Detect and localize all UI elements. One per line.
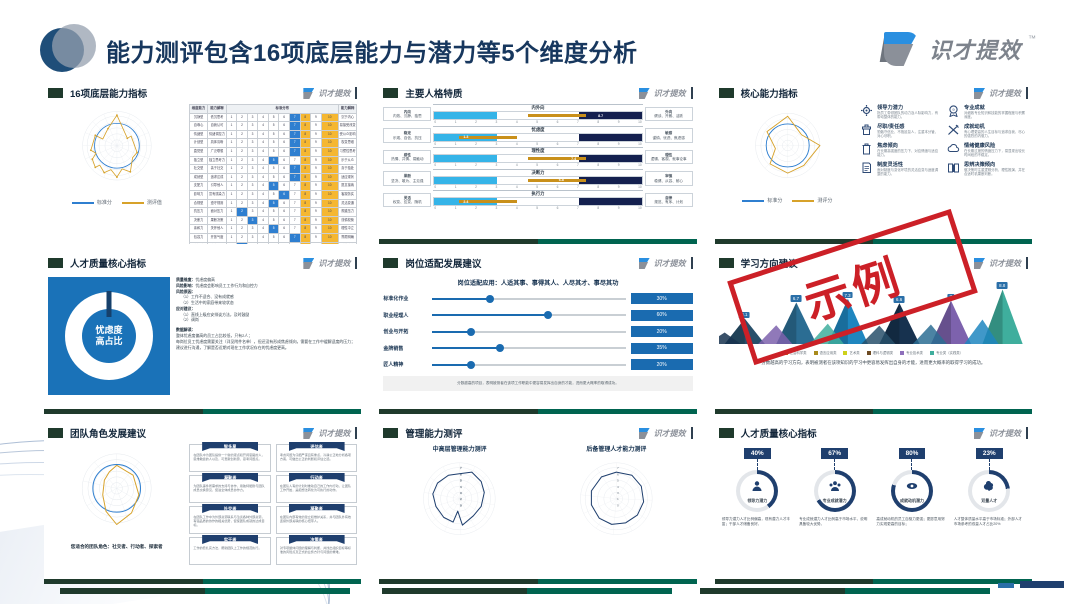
cell-score[interactable]: 1 bbox=[226, 233, 237, 242]
cell-score[interactable]: 4 bbox=[258, 242, 269, 244]
cell-score[interactable]: 7 bbox=[289, 233, 300, 242]
cell-score[interactable]: 10 bbox=[321, 139, 338, 148]
cell-score[interactable]: 4 bbox=[258, 165, 269, 174]
cell-score[interactable]: 8 bbox=[300, 122, 311, 131]
brand-name: 识才提效 bbox=[654, 88, 686, 99]
cell-score[interactable]: 3 bbox=[247, 182, 258, 191]
cell-score[interactable]: 9 bbox=[311, 156, 322, 165]
cell-score[interactable]: 2 bbox=[237, 199, 248, 208]
cell-score[interactable]: 5 bbox=[268, 156, 279, 165]
cell-score[interactable]: 1 bbox=[226, 130, 237, 139]
card-foundational-abilities[interactable]: 16项底层能力指标 识才提效 bbox=[44, 84, 361, 244]
cell-score[interactable]: 10 bbox=[321, 173, 338, 182]
cell-score[interactable]: 6 bbox=[279, 225, 290, 234]
svg-text:4: 4 bbox=[617, 485, 619, 489]
cell-score[interactable]: 1 bbox=[226, 190, 237, 199]
cell-score[interactable]: 10 bbox=[321, 156, 338, 165]
cell-score[interactable]: 5 bbox=[268, 242, 279, 244]
cell-score[interactable]: 9 bbox=[311, 208, 322, 217]
radar-chart-core: 标准分 测评分 bbox=[719, 104, 856, 204]
cell-score[interactable]: 2 bbox=[237, 122, 248, 131]
cell-score[interactable]: 7 bbox=[289, 147, 300, 156]
card-body: 内向内敛、沉静、独思内外向8.7012345678910外向健谈、开朗、活跃稳定… bbox=[379, 100, 696, 236]
cell-score[interactable]: 1 bbox=[226, 122, 237, 131]
cell-score[interactable]: 8 bbox=[300, 242, 311, 244]
cell-score[interactable]: 9 bbox=[311, 139, 322, 148]
job-fit-slider[interactable] bbox=[432, 364, 625, 366]
svg-text:5: 5 bbox=[460, 479, 462, 483]
cell-score[interactable]: 3 bbox=[247, 147, 258, 156]
cell-score[interactable]: 7 bbox=[289, 156, 300, 165]
cell-score[interactable]: 10 bbox=[321, 233, 338, 242]
cell-score[interactable]: 3 bbox=[247, 165, 258, 174]
cell-score[interactable]: 6 bbox=[279, 216, 290, 225]
cell-score[interactable]: 6 bbox=[279, 147, 290, 156]
cell-score[interactable]: 3 bbox=[247, 122, 258, 131]
table-row[interactable]: 支配力引导他人12345678910愿意接纳 bbox=[189, 182, 356, 191]
cell-score[interactable]: 9 bbox=[311, 165, 322, 174]
cell-score[interactable]: 9 bbox=[311, 147, 322, 156]
job-fit-row[interactable]: 金牌销售35% bbox=[383, 343, 692, 354]
cell-score[interactable]: 8 bbox=[300, 156, 311, 165]
competency-desc: 对细致专业知识和技能的掌握程度与积累深度。 bbox=[964, 111, 1028, 120]
cell-score[interactable]: 10 bbox=[321, 113, 338, 122]
cell-explain2: 界限明确 bbox=[338, 233, 356, 242]
cell-score[interactable]: 3 bbox=[247, 130, 258, 139]
cell-score[interactable]: 9 bbox=[311, 216, 322, 225]
cell-score[interactable]: 8 bbox=[300, 173, 311, 182]
cell-score[interactable]: 3 bbox=[247, 233, 258, 242]
cell-score[interactable]: 6 bbox=[279, 165, 290, 174]
cell-score[interactable]: 7 bbox=[289, 113, 300, 122]
cell-score[interactable]: 3 bbox=[247, 242, 258, 244]
cell-score[interactable]: 5 bbox=[268, 225, 279, 234]
job-fit-name: 职业经理人 bbox=[383, 312, 427, 319]
cell-score[interactable]: 6 bbox=[279, 182, 290, 191]
radar-svg-core bbox=[719, 104, 856, 190]
cell-score[interactable]: 10 bbox=[321, 147, 338, 156]
cell-score[interactable]: 7 bbox=[289, 130, 300, 139]
cell-explain: 低沉思考 bbox=[208, 113, 226, 122]
cell-score[interactable]: 1 bbox=[226, 242, 237, 244]
cell-explain2: 规避压力 bbox=[338, 208, 356, 217]
ability-table[interactable]: 维度能力 能力解释 标准分布 能力解释 沉静型低沉思考12345678910沉于… bbox=[189, 104, 357, 244]
team-role-card[interactable]: 凝聚者为团队事件所需求的支持与协作，用独特能耐与团队成员交换意见，促进全体成员协… bbox=[189, 475, 270, 503]
cell-score[interactable]: 3 bbox=[247, 208, 258, 217]
cell-score[interactable]: 9 bbox=[311, 199, 322, 208]
cell-score[interactable]: 5 bbox=[268, 139, 279, 148]
job-fit-pct: 20% bbox=[631, 326, 693, 337]
cell-score[interactable]: 10 bbox=[321, 165, 338, 174]
team-role-ribbons: 智多星在团队中为团队提供一个新的观点和开阔思路的人，思维敏捷的人以及，可贡献创新… bbox=[189, 444, 357, 565]
cell-score[interactable]: 2 bbox=[237, 233, 248, 242]
card-talent-quality-gauges[interactable]: 人才质量核心指标 识才提效 40%领导力潜力领导力潜力人才比例偏高，现有潜力人才… bbox=[715, 424, 1032, 584]
brand-mark-icon bbox=[638, 427, 651, 439]
cell-score[interactable]: 6 bbox=[279, 122, 290, 131]
peaks-legend: 社会科学类语言应用类艺术类理科与逻辑类专业技术类专业类（实践类） bbox=[719, 350, 1028, 355]
table-row[interactable]: 抗压力面对压力12345678910规避压力 bbox=[189, 208, 356, 217]
cell-score[interactable]: 3 bbox=[247, 216, 258, 225]
cell-dimension: 自律型 bbox=[189, 242, 207, 244]
cell-score[interactable]: 1 bbox=[226, 165, 237, 174]
cell-score[interactable]: 10 bbox=[321, 242, 338, 244]
bottom-accent-2 bbox=[1020, 581, 1064, 588]
cell-score[interactable]: 4 bbox=[258, 208, 269, 217]
cell-score[interactable]: 8 bbox=[300, 233, 311, 242]
radar-legend: 标准分 测评分 bbox=[719, 197, 856, 204]
cell-score[interactable]: 5 bbox=[268, 165, 279, 174]
cell-score[interactable]: 5 bbox=[268, 182, 279, 191]
slider-knob[interactable] bbox=[496, 344, 504, 352]
trait-value: 7.4 bbox=[571, 157, 576, 161]
cell-score[interactable]: 8 bbox=[300, 139, 311, 148]
cell-score[interactable]: 6 bbox=[279, 199, 290, 208]
cell-score[interactable]: 7 bbox=[289, 122, 300, 131]
table-row[interactable]: 包容力开放气度12345678910界限明确 bbox=[189, 233, 356, 242]
job-fit-slider[interactable] bbox=[432, 298, 625, 300]
table-row[interactable]: 直觉型广泛联想12345678910习惯性思考 bbox=[189, 147, 356, 156]
slider-knob[interactable] bbox=[467, 328, 475, 336]
cell-explain2: 理性中立 bbox=[338, 225, 356, 234]
team-role-card[interactable]: 智多星在团队中为团队提供一个新的观点和开阔思路的人，思维敏捷的人以及，可贡献创新… bbox=[189, 444, 270, 472]
cell-score[interactable]: 8 bbox=[300, 165, 311, 174]
job-fit-row[interactable]: 匠人精神20% bbox=[383, 359, 692, 370]
cell-score[interactable]: 9 bbox=[311, 225, 322, 234]
cell-score[interactable]: 9 bbox=[311, 233, 322, 242]
competency-title: 领导力潜力 bbox=[877, 104, 941, 111]
job-fit-row[interactable]: 职业经理人60% bbox=[383, 310, 692, 321]
brand-mark-icon bbox=[882, 30, 922, 68]
table-row[interactable]: 沉静型低沉思考12345678910沉于内心 bbox=[189, 113, 356, 122]
gauge-desc: 高成就动机的员工自驱力更强；更愿意用努力实现更高的目标； bbox=[876, 517, 947, 527]
cell-explain2: 乐于从众 bbox=[338, 156, 356, 165]
cell-score[interactable]: 9 bbox=[311, 182, 322, 191]
gauge-ring: 领导力潜力 bbox=[736, 470, 778, 512]
group-icon bbox=[829, 479, 841, 497]
trait-right-label: 自律规范、有序、计划 bbox=[645, 193, 693, 208]
cell-score[interactable]: 7 bbox=[289, 216, 300, 225]
table-row[interactable]: 影响力富有感染力12345678910客观务实 bbox=[189, 190, 356, 199]
cell-score[interactable]: 1 bbox=[226, 216, 237, 225]
peaks-svg bbox=[719, 274, 1028, 348]
card-management-assessment[interactable]: 管理能力测评 识才提效 中高层管理能力测评 bbox=[379, 424, 696, 584]
slider-knob[interactable] bbox=[544, 311, 552, 319]
cell-score[interactable]: 4 bbox=[258, 113, 269, 122]
brand-name: 识才提效 bbox=[989, 428, 1021, 439]
peaks-legend-item: 专业技术类 bbox=[900, 350, 923, 355]
competency-desc: 在长期过度的情绪压力下，易显现出较长时间段的不稳定。 bbox=[964, 149, 1028, 158]
trait-row: 感性热情、共情、易触动理性度7.4012345678910理性逻辑、客观、就事论… bbox=[383, 147, 692, 167]
cell-score[interactable]: 1 bbox=[226, 156, 237, 165]
ability-table-wrap[interactable]: 维度能力 能力解释 标准分布 能力解释 沉静型低沉思考12345678910沉于… bbox=[189, 104, 357, 244]
cell-score[interactable]: 7 bbox=[289, 190, 300, 199]
team-role-tag: 凝聚者 bbox=[289, 504, 345, 513]
cell-score[interactable]: 9 bbox=[311, 122, 322, 131]
cell-score[interactable]: 10 bbox=[321, 190, 338, 199]
table-row[interactable]: 情绪型情绪调控力12345678910受公众影响 bbox=[189, 130, 356, 139]
cell-score[interactable]: 8 bbox=[300, 199, 311, 208]
cell-score[interactable]: 3 bbox=[247, 173, 258, 182]
trait-value: 8.7 bbox=[598, 114, 603, 118]
table-row[interactable]: 社交型善于社交12345678910喜于独处 bbox=[189, 165, 356, 174]
trait-axis: 012345678910 bbox=[433, 163, 642, 167]
cell-score[interactable]: 1 bbox=[226, 182, 237, 191]
th-explain: 能力解释 bbox=[208, 105, 226, 114]
cell-score[interactable]: 6 bbox=[279, 173, 290, 182]
cell-score[interactable]: 3 bbox=[247, 113, 258, 122]
card-learning-direction[interactable]: 学习方向建议 识才提效 4.16.77.36.678.8 社会科学类语言应用类艺… bbox=[715, 254, 1032, 414]
peak-value-label: 6.7 bbox=[791, 295, 802, 302]
cell-score[interactable]: 4 bbox=[258, 216, 269, 225]
cell-score[interactable]: 7 bbox=[289, 242, 300, 244]
page-title: 能力测评包含16项底层能力与潜力等5个维度分析 bbox=[106, 33, 638, 68]
cell-score[interactable]: 4 bbox=[258, 156, 269, 165]
cell-explain: 遵守规则 bbox=[208, 199, 226, 208]
card-marker-icon bbox=[383, 258, 398, 268]
peaks-legend-item: 艺术类 bbox=[843, 350, 859, 355]
cell-explain: 自我认可 bbox=[208, 122, 226, 131]
cell-score[interactable]: 10 bbox=[321, 199, 338, 208]
cell-score[interactable]: 3 bbox=[247, 139, 258, 148]
cell-score[interactable]: 5 bbox=[268, 173, 279, 182]
peak-value-label: 6.6 bbox=[894, 296, 905, 303]
cell-score[interactable]: 4 bbox=[258, 139, 269, 148]
team-radar-svg bbox=[48, 444, 185, 536]
job-fit-row[interactable]: 创业与开拓20% bbox=[383, 326, 692, 337]
cell-score[interactable]: 9 bbox=[311, 130, 322, 139]
table-row[interactable]: 独立型独立思考力12345678910乐于从众 bbox=[189, 156, 356, 165]
card-title: 主要人格特质 bbox=[405, 86, 462, 100]
cell-score[interactable]: 1 bbox=[226, 225, 237, 234]
team-role-card[interactable]: 决策者对专项整体问题的理解与判断，并找出组织目标等标准的风险点及正式的业务方针与… bbox=[276, 537, 357, 565]
cell-score[interactable]: 1 bbox=[226, 199, 237, 208]
table-row[interactable]: 自律型自我约束12345678910随性自在 bbox=[189, 242, 356, 244]
competency-title: 尽职/责任感 bbox=[877, 123, 941, 130]
card-body: 您适合的团队角色：社交者、行动者、探索者 智多星在团队中为团队提供一个新的观点和… bbox=[44, 440, 361, 576]
cell-score[interactable]: 10 bbox=[321, 130, 338, 139]
cell-explain2: 习惯性思考 bbox=[338, 147, 356, 156]
trait-left-label: 内向内敛、沉静、独思 bbox=[383, 107, 431, 122]
th-dimension: 维度能力 bbox=[189, 105, 207, 114]
cell-score[interactable]: 9 bbox=[311, 242, 322, 244]
cell-score[interactable]: 7 bbox=[289, 173, 300, 182]
gauge-ring: 双量人才 bbox=[968, 470, 1010, 512]
cell-score[interactable]: 6 bbox=[279, 208, 290, 217]
legend-label: 标准分 bbox=[767, 197, 782, 204]
team-role-card[interactable]: 行动者在团队人有的计划时推动自己的工作内行动，让团队工作开始，是把想法转化为可执… bbox=[276, 475, 357, 503]
cell-score[interactable]: 7 bbox=[289, 199, 300, 208]
card-job-fit[interactable]: 岗位适配发展建议 识才提效 岗位适配应用：人适其事、事得其人、人尽其才、事尽其功… bbox=[379, 254, 696, 414]
cell-score[interactable]: 5 bbox=[268, 147, 279, 156]
cell-score[interactable]: 10 bbox=[321, 182, 338, 191]
card-brand-logo: 识才提效 bbox=[638, 427, 693, 439]
gauge-column: 80%成就动机潜力高成就动机的员工自驱力更强；更愿意用努力实现更高的目标； bbox=[876, 448, 947, 527]
peak-value-label: 7.3 bbox=[842, 292, 853, 299]
cell-score[interactable]: 8 bbox=[300, 190, 311, 199]
cell-score[interactable]: 4 bbox=[258, 173, 269, 182]
card-team-role[interactable]: 团队角色发展建议 识才提效 bbox=[44, 424, 361, 584]
brand-name: 识才提效 bbox=[318, 88, 350, 99]
cell-score[interactable]: 5 bbox=[268, 199, 279, 208]
cell-score[interactable]: 5 bbox=[268, 208, 279, 217]
table-row[interactable]: 亲和力关怀他人12345678910理性中立 bbox=[189, 225, 356, 234]
team-role-text: 为团队事件所需求的支持与协作，用独特能耐与团队成员交换意见，促进全体成员协作力。 bbox=[193, 484, 266, 492]
cell-score[interactable]: 10 bbox=[321, 122, 338, 131]
cell-score[interactable]: 7 bbox=[289, 208, 300, 217]
cell-score[interactable]: 3 bbox=[247, 156, 258, 165]
cell-score[interactable]: 3 bbox=[247, 225, 258, 234]
job-fit-name: 匠人精神 bbox=[383, 361, 427, 368]
cell-score[interactable]: 3 bbox=[247, 190, 258, 199]
cell-score[interactable]: 2 bbox=[237, 225, 248, 234]
cell-score[interactable]: 7 bbox=[289, 182, 300, 191]
cell-score[interactable]: 2 bbox=[237, 139, 248, 148]
team-role-tag: 行动者 bbox=[289, 473, 345, 482]
team-radar-chart: 您适合的团队角色：社交者、行动者、探索者 bbox=[48, 444, 185, 565]
brand-logo: 识才提效 ™ bbox=[882, 30, 1036, 68]
cell-score[interactable]: 5 bbox=[268, 122, 279, 131]
cell-score[interactable]: 2 bbox=[237, 165, 248, 174]
cell-score[interactable]: 9 bbox=[311, 113, 322, 122]
table-row[interactable]: 合规型遵守规则12345678910灵活变通 bbox=[189, 199, 356, 208]
cell-score[interactable]: 8 bbox=[300, 130, 311, 139]
cell-score[interactable]: 6 bbox=[279, 156, 290, 165]
cell-score[interactable]: 2 bbox=[237, 242, 248, 244]
trait-row: 稳定乐观、自信、抗压忧虑度1.3012345678910敏感谨慎、忧虑、焦虑感 bbox=[383, 126, 692, 146]
cell-score[interactable]: 1 bbox=[226, 147, 237, 156]
team-role-card[interactable]: 实干者工作的稳扎实方法，帮助团队上工作的规范执行。 bbox=[189, 537, 270, 565]
team-role-card[interactable]: 凝聚者在团队内部有效的建立和维护关系，并与团队外有效连接外部关联的核心纽带人。 bbox=[276, 506, 357, 534]
cell-score[interactable]: 5 bbox=[268, 113, 279, 122]
target-icon bbox=[947, 123, 960, 136]
table-row[interactable]: 成就型追求达成12345678910适应现状 bbox=[189, 173, 356, 182]
team-role-card[interactable]: 评估者考虑问题为仔细严谨且有重点，冷静公正地分析各项方案，可做出公正的判断和评估… bbox=[276, 444, 357, 472]
cell-score[interactable]: 2 bbox=[237, 147, 248, 156]
cell-score[interactable]: 4 bbox=[258, 199, 269, 208]
brain-icon bbox=[983, 479, 995, 497]
cell-score[interactable]: 8 bbox=[300, 147, 311, 156]
cell-score[interactable]: 10 bbox=[321, 208, 338, 217]
table-row[interactable]: 自尊心自我认可12345678910易接受改变 bbox=[189, 122, 356, 131]
cell-dimension: 独立型 bbox=[189, 156, 207, 165]
radar-legend: 标准分 测评值 bbox=[48, 199, 186, 206]
card-body: 40%领导力潜力领导力潜力人才比例偏高，现有潜力人才丰富；干部人才储备良好。67… bbox=[715, 440, 1032, 576]
cell-score[interactable]: 9 bbox=[311, 173, 322, 182]
cell-score[interactable]: 1 bbox=[226, 139, 237, 148]
cell-score[interactable]: 6 bbox=[279, 242, 290, 244]
cell-score[interactable]: 9 bbox=[311, 190, 322, 199]
cell-score[interactable]: 10 bbox=[321, 225, 338, 234]
cell-score[interactable]: 6 bbox=[279, 233, 290, 242]
cell-score[interactable]: 8 bbox=[300, 182, 311, 191]
cell-score[interactable]: 8 bbox=[300, 113, 311, 122]
card-footer-bar bbox=[379, 409, 696, 414]
card-header: 团队角色发展建议 识才提效 bbox=[44, 424, 361, 440]
slider-knob[interactable] bbox=[467, 361, 475, 369]
cell-score[interactable]: 4 bbox=[258, 130, 269, 139]
summary-title: 数据解读： bbox=[176, 327, 195, 332]
cell-score[interactable]: 4 bbox=[258, 122, 269, 131]
cell-score[interactable]: 2 bbox=[237, 182, 248, 191]
job-fit-slider[interactable] bbox=[432, 331, 625, 333]
cell-score[interactable]: 6 bbox=[279, 130, 290, 139]
cell-score[interactable]: 8 bbox=[300, 216, 311, 225]
job-fit-rows[interactable]: 标准化作业30%职业经理人60%创业与开拓20%金牌销售35%匠人精神20% bbox=[383, 293, 692, 370]
cell-score[interactable]: 10 bbox=[321, 216, 338, 225]
cell-explain: 面对压力 bbox=[208, 208, 226, 217]
cell-score[interactable]: 4 bbox=[258, 182, 269, 191]
cell-score[interactable]: 8 bbox=[300, 208, 311, 217]
cell-explain: 引导他人 bbox=[208, 182, 226, 191]
card-body: 标准分 测评值 维度能力 能力解释 标准分布 能力解释 bbox=[44, 100, 361, 244]
competency-title: 制度灵活性 bbox=[877, 161, 941, 168]
card-talent-quality-anxiety[interactable]: 人才质量核心指标 识才提效 忧虑度 高占比 bbox=[44, 254, 361, 414]
table-header-row: 维度能力 能力解释 标准分布 能力解释 bbox=[189, 105, 356, 114]
cell-score[interactable]: 7 bbox=[289, 139, 300, 148]
job-fit-slider[interactable] bbox=[432, 314, 625, 316]
job-fit-slider[interactable] bbox=[432, 347, 625, 349]
cell-score[interactable]: 2 bbox=[237, 208, 248, 217]
team-role-card[interactable]: 社交者在团队工作中为外部资源联系与洽谈各种外部资源，有强品质的协作的相关优势，促… bbox=[189, 506, 270, 534]
cell-score[interactable]: 5 bbox=[268, 233, 279, 242]
cell-score[interactable]: 1 bbox=[226, 113, 237, 122]
cell-score[interactable]: 2 bbox=[237, 173, 248, 182]
competency-item: 成就动机有心理更高的人生目标与追求自我，尽心的强烈的内驱力。 bbox=[947, 123, 1028, 139]
cell-score[interactable]: 2 bbox=[237, 113, 248, 122]
cell-score[interactable]: 2 bbox=[237, 190, 248, 199]
cell-score[interactable]: 2 bbox=[237, 156, 248, 165]
cell-score[interactable]: 4 bbox=[258, 233, 269, 242]
cell-score[interactable]: 7 bbox=[289, 225, 300, 234]
table-row[interactable]: 决断力果断决策12345678910谨慎权衡 bbox=[189, 216, 356, 225]
cell-score[interactable]: 1 bbox=[226, 208, 237, 217]
slider-knob[interactable] bbox=[486, 295, 494, 303]
card-personality-traits[interactable]: 主要人格特质 识才提效 内向内敛、沉静、独思内外向8.7012345678910… bbox=[379, 84, 696, 244]
peaks-legend-item: 社会科学类 bbox=[784, 350, 807, 355]
trait-value: 1.3 bbox=[463, 135, 468, 139]
card-title: 16项底层能力指标 bbox=[70, 86, 147, 100]
table-row[interactable]: 计划型具体清晰12345678910权变思维 bbox=[189, 139, 356, 148]
cell-score[interactable]: 4 bbox=[258, 225, 269, 234]
cell-score[interactable]: 5 bbox=[268, 190, 279, 199]
cell-score[interactable]: 6 bbox=[279, 139, 290, 148]
cell-score[interactable]: 6 bbox=[279, 113, 290, 122]
cell-score[interactable]: 2 bbox=[237, 130, 248, 139]
cell-score[interactable]: 4 bbox=[258, 190, 269, 199]
mgmt-chart-reserve: 后备管理人才能力测评 bbox=[540, 444, 693, 552]
cell-score[interactable]: 2 bbox=[237, 216, 248, 225]
eye-icon bbox=[906, 479, 918, 497]
card-marker-icon bbox=[719, 258, 734, 268]
report-card-grid: 16项底层能力指标 识才提效 bbox=[44, 84, 1032, 584]
brand-mark-icon bbox=[638, 257, 651, 269]
card-core-competency[interactable]: 核心能力指标 识才提效 bbox=[715, 84, 1032, 244]
donut-ring: 忧虑度 高占比 bbox=[65, 292, 153, 380]
cell-score[interactable]: 8 bbox=[300, 225, 311, 234]
cell-score[interactable]: 7 bbox=[289, 165, 300, 174]
trait-axis: 012345678910 bbox=[433, 206, 642, 210]
card-brand-logo: 识才提效 bbox=[638, 257, 693, 269]
job-fit-row[interactable]: 标准化作业30% bbox=[383, 293, 692, 304]
cell-explain: 独立思考力 bbox=[208, 156, 226, 165]
cell-score[interactable]: 1 bbox=[226, 173, 237, 182]
cell-score[interactable]: 5 bbox=[268, 216, 279, 225]
cell-score[interactable]: 6 bbox=[279, 190, 290, 199]
cell-score[interactable]: 4 bbox=[258, 147, 269, 156]
cell-score[interactable]: 5 bbox=[268, 130, 279, 139]
gauge-desc: 专业成就潜力人才比例高于市场水平，说明具备较大优势。 bbox=[799, 517, 870, 527]
cell-score[interactable]: 3 bbox=[247, 199, 258, 208]
